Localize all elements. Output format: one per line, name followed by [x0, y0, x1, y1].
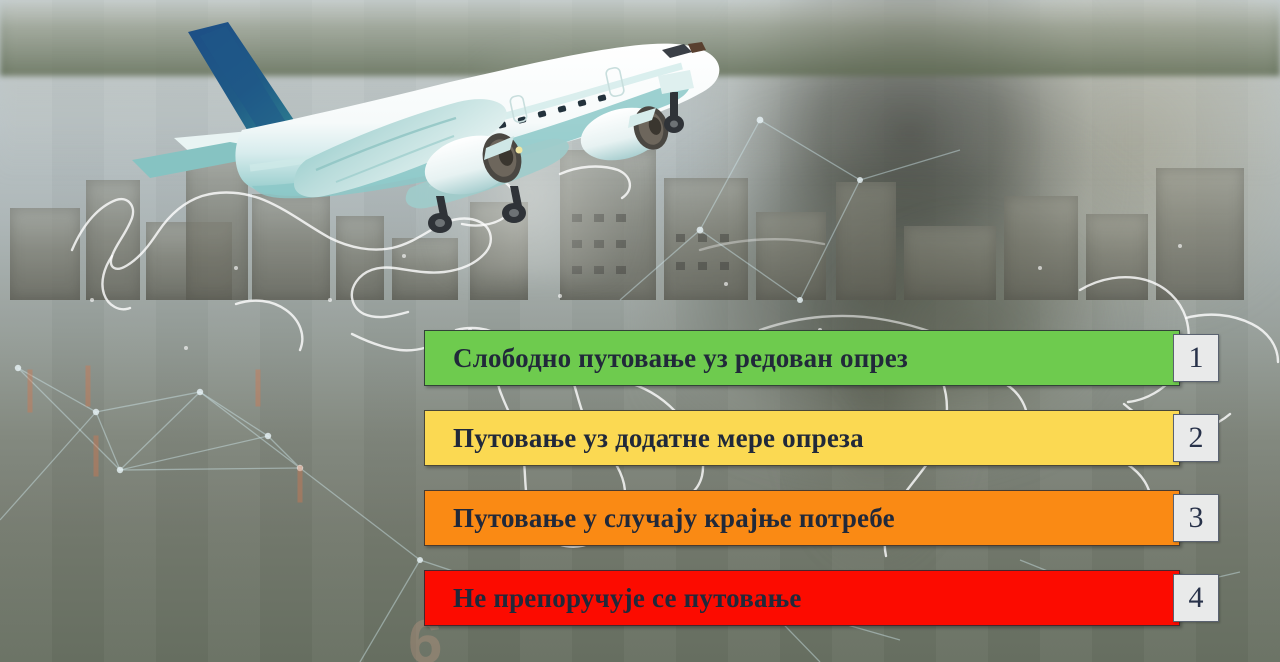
- legend-row[interactable]: Путовање уз додатне мере опреза 2: [424, 410, 1220, 466]
- airplane-illustration: [110, 10, 750, 240]
- legend-row[interactable]: Слободно путовање уз редован опрез 1: [424, 330, 1220, 386]
- legend-row[interactable]: Не препоручује се путовање 4: [424, 570, 1220, 626]
- legend-label-level-1: Слободно путовање уз редован опрез: [425, 343, 908, 374]
- legend-label-level-4: Не препоручује се путовање: [425, 583, 802, 614]
- legend-row[interactable]: Путовање у случају крајње потребе 3: [424, 490, 1220, 546]
- legend-bar-level-2[interactable]: Путовање уз додатне мере опреза: [424, 410, 1180, 466]
- legend-label-level-2: Путовање уз додатне мере опреза: [425, 423, 864, 454]
- legend-bar-level-4[interactable]: Не препоручује се путовање: [424, 570, 1180, 626]
- travel-advisory-legend: Слободно путовање уз редован опрез 1 Пут…: [424, 330, 1220, 626]
- legend-number-level-1: 1: [1173, 334, 1219, 382]
- legend-number-level-2: 2: [1173, 414, 1219, 462]
- legend-number-level-3: 3: [1173, 494, 1219, 542]
- legend-bar-level-1[interactable]: Слободно путовање уз редован опрез: [424, 330, 1180, 386]
- legend-label-level-3: Путовање у случају крајње потребе: [425, 503, 895, 534]
- legend-number-level-4: 4: [1173, 574, 1219, 622]
- legend-bar-level-3[interactable]: Путовање у случају крајње потребе: [424, 490, 1180, 546]
- slide-canvas: 6: [0, 0, 1280, 662]
